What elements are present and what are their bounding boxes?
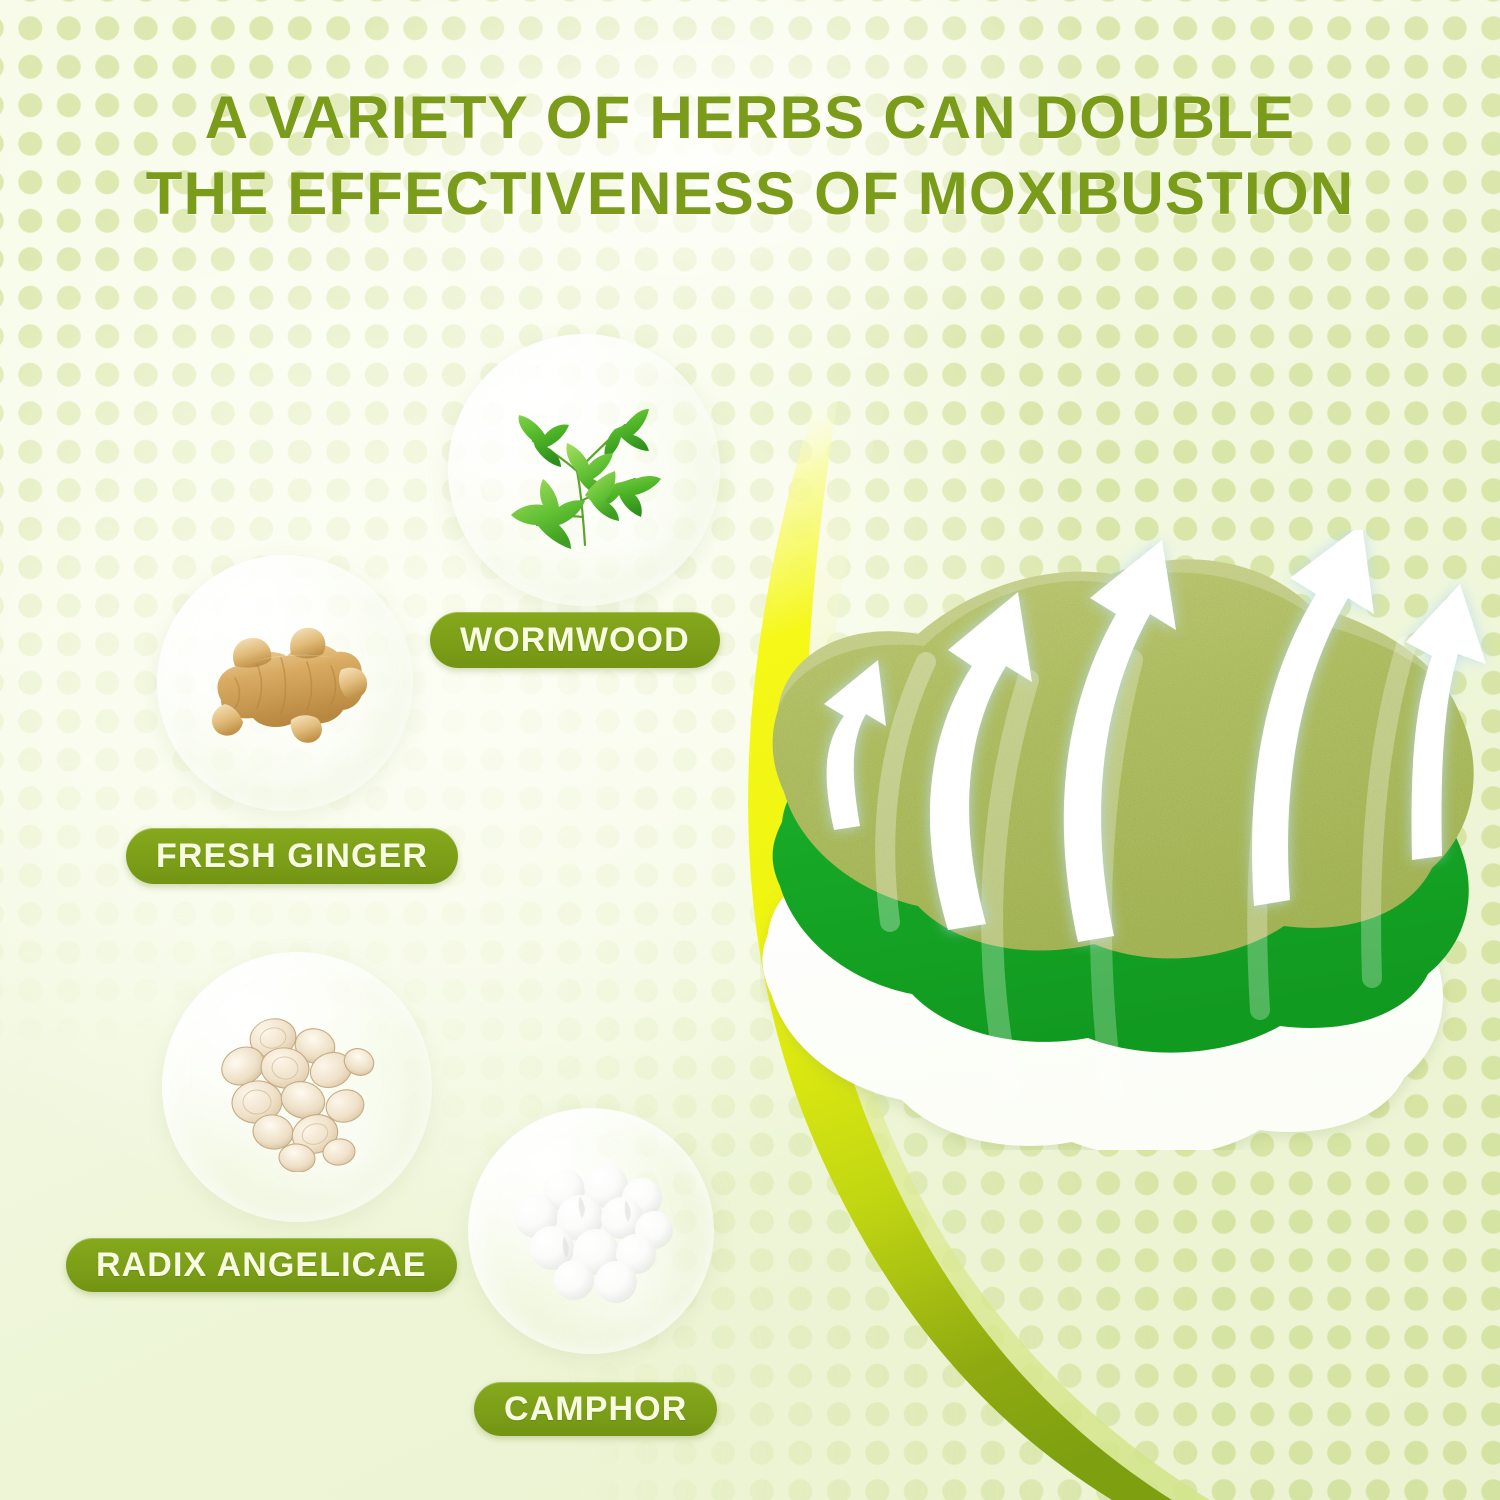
ingredient-label-radix-angelicae[interactable]: RADIX ANGELICAE [66, 1238, 457, 1292]
ingredient-label-text: CAMPHOR [504, 1390, 687, 1429]
ingredient-bubble-wormwood[interactable] [448, 334, 720, 606]
ingredient-bubble-fresh-ginger[interactable] [157, 555, 413, 811]
ingredient-bubble-radix-angelicae[interactable] [162, 952, 432, 1222]
title-line-2: THE EFFECTIVENESS OF MOXIBUSTION [0, 156, 1500, 232]
ingredient-label-text: FRESH GINGER [156, 837, 428, 876]
page-title: A VARIETY OF HERBS CAN DOUBLE THE EFFECT… [0, 80, 1500, 232]
ingredient-label-text: RADIX ANGELICAE [96, 1246, 427, 1285]
dried-root-slices-icon [162, 952, 432, 1222]
ingredient-label-fresh-ginger[interactable]: FRESH GINGER [126, 828, 458, 884]
ingredient-label-camphor[interactable]: CAMPHOR [474, 1382, 717, 1436]
moxibustion-patch-layers [760, 530, 1500, 1150]
wormwood-sprig-icon [448, 334, 720, 606]
ingredient-bubble-camphor[interactable] [468, 1108, 714, 1354]
camphor-balls-icon [468, 1108, 714, 1354]
title-line-1: A VARIETY OF HERBS CAN DOUBLE [0, 80, 1500, 156]
poster-canvas: A VARIETY OF HERBS CAN DOUBLE THE EFFECT… [0, 0, 1500, 1500]
ginger-root-icon [157, 555, 413, 811]
ingredient-label-text: WORMWOOD [460, 621, 690, 660]
ingredient-label-wormwood[interactable]: WORMWOOD [430, 612, 720, 668]
